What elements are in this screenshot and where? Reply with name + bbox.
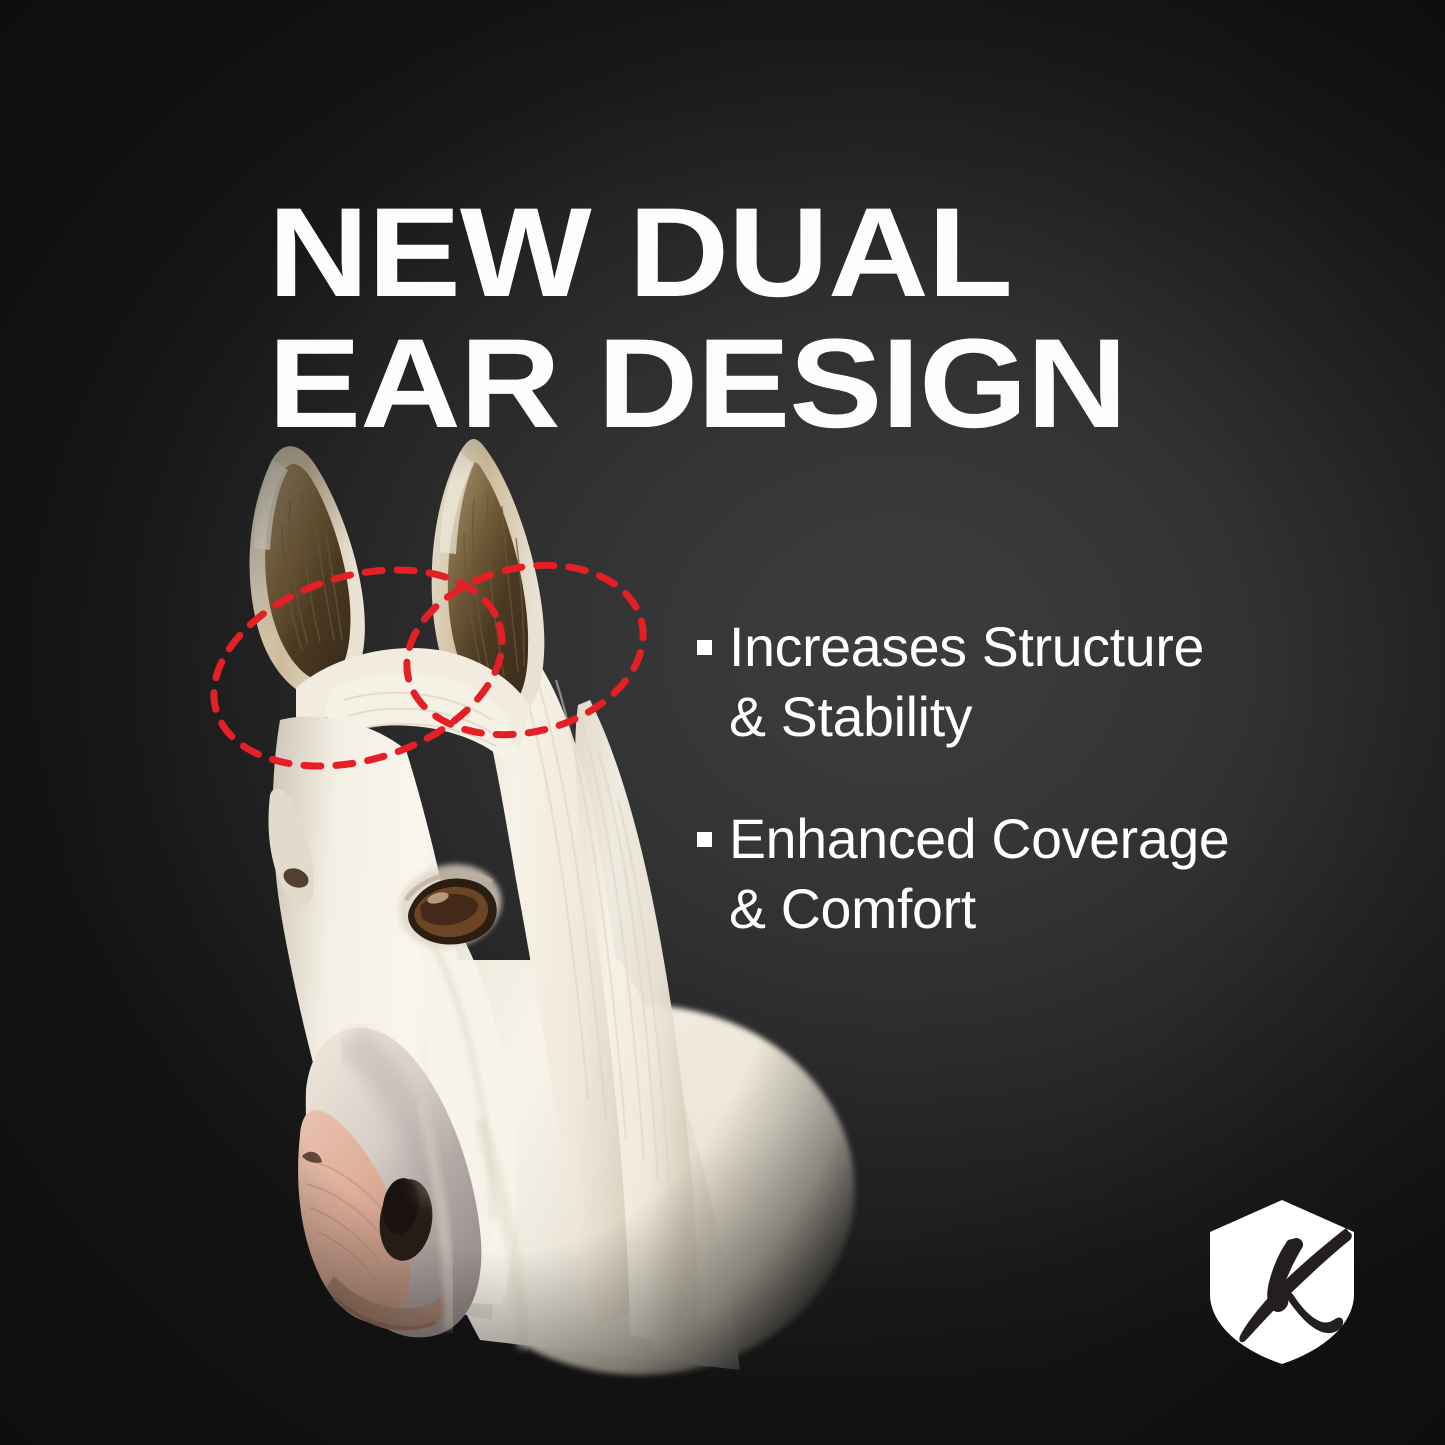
list-item: Enhanced Coverage & Comfort — [697, 804, 1377, 944]
bullet-line-1: Increases Structure — [729, 615, 1204, 678]
square-bullet-icon — [697, 640, 712, 655]
headline-line-2: EAR DESIGN — [268, 322, 1302, 445]
headline: NEW DUAL EAR DESIGN — [268, 191, 1208, 445]
bullet-text: Enhanced Coverage & Comfort — [729, 804, 1229, 944]
bullet-text: Increases Structure & Stability — [729, 612, 1204, 752]
bullet-line-2: & Stability — [729, 685, 972, 748]
brand-logo — [1206, 1198, 1358, 1366]
feature-bullet-list: Increases Structure & Stability Enhanced… — [697, 612, 1377, 996]
square-bullet-icon — [697, 832, 712, 847]
bullet-line-2: & Comfort — [729, 877, 976, 940]
bullet-line-1: Enhanced Coverage — [729, 807, 1229, 870]
headline-line-1: NEW DUAL — [268, 191, 1302, 314]
ad-canvas: NEW DUAL EAR DESIGN Increases Structure … — [0, 0, 1445, 1445]
list-item: Increases Structure & Stability — [697, 612, 1377, 752]
